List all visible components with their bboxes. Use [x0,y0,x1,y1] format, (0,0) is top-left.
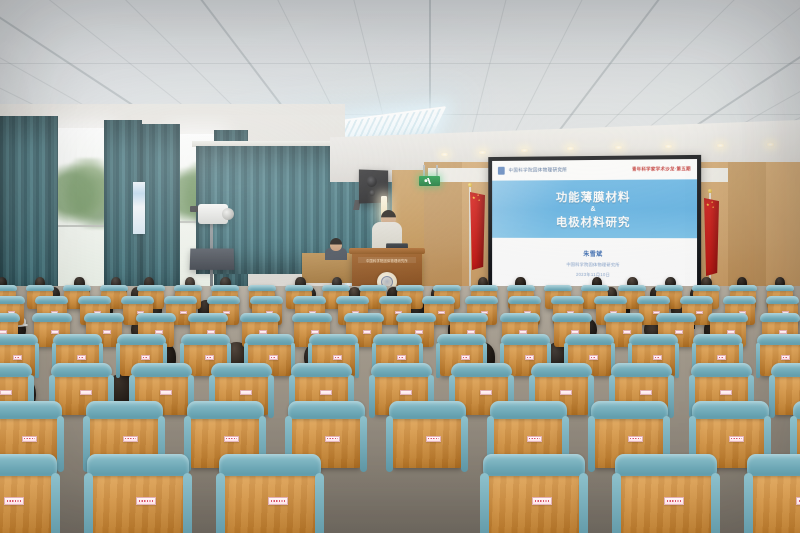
seat-headrest [465,296,498,304]
seat-number-label [0,390,12,395]
seat-number-label [123,436,138,443]
seat-headrest [470,285,499,292]
seat-number-label [160,390,172,395]
seat-armrest [744,473,753,533]
seat-headrest [248,285,277,292]
running-man-icon [423,178,436,184]
seat-number-label [224,436,239,443]
speaker-driver-icon [367,176,377,187]
seat-number-label [461,355,471,359]
slide-title-line2: 电极材料研究 [556,214,631,230]
seat-headrest [309,334,357,345]
seat-number-label [333,355,343,359]
seat-armrest [711,473,720,533]
speaker-driver-icon [369,190,375,196]
seat-armrest [612,473,621,533]
wall-poster [133,182,145,234]
seat-headrest [373,334,421,345]
seat-headrest [0,363,32,377]
flag-star: ★ [477,194,479,198]
auditorium-seat [0,462,52,533]
seat-armrest [183,473,192,533]
seat-number-label [628,436,643,443]
window-foliage [56,158,108,229]
auditorium-seat [224,462,316,533]
seat-headrest [551,296,584,304]
seat-headrest [211,285,240,292]
seat-armrest [116,343,120,378]
seat-number-label [363,330,371,333]
slide-title-band: 功能薄膜材料 & 电极材料研究 [492,180,697,238]
seat-headrest [136,313,176,322]
seat-headrest [51,363,112,377]
seat-number-label [77,355,87,359]
seat-headrest [544,285,573,292]
seat-headrest [747,454,800,477]
seat-number-label [640,390,652,395]
seat-armrest [268,375,274,418]
seated-staff-head [330,238,342,251]
seat-headrest [84,313,124,322]
seat-armrest [57,416,64,471]
seat-number-label [13,355,23,359]
curtain-far-left [0,116,58,306]
seat-number-label [240,390,252,395]
seat-headrest [219,454,320,477]
institute-logo-icon [498,167,505,175]
chinese-flag-left: ★ ★ ★ [470,192,485,270]
seat-number-label [796,497,800,505]
seat-headrest [293,296,326,304]
seat-headrest [181,334,229,345]
podium-top [349,248,425,254]
seat-headrest [448,313,488,322]
seat-headrest [618,285,647,292]
seat-armrest [315,473,324,533]
seat-headrest [336,296,369,304]
recessed-downlight [614,145,623,150]
podium-banner: 中国科学院固体物理研究所 [358,257,416,263]
seat-headrest [422,296,455,304]
seat-headrest [594,296,627,304]
seat-headrest [433,285,462,292]
seat-armrest [386,416,393,471]
curtain-mid [140,124,180,302]
seat-headrest [691,363,752,377]
seat-headrest [0,401,62,419]
seat-armrest [588,416,595,471]
seat-number-label [268,497,288,505]
seat-headrest [565,334,613,345]
exit-sign [419,176,440,186]
seat-headrest [629,334,677,345]
seat-headrest [693,334,741,345]
seat-headrest [655,285,684,292]
seat-headrest [500,313,540,322]
seat-headrest [0,296,25,304]
seat-headrest [437,334,485,345]
seat-headrest [26,285,55,292]
seat-headrest [490,401,567,419]
seat-headrest [78,296,111,304]
seat-number-label [653,355,663,359]
seat-headrest [63,285,92,292]
recessed-downlight [766,142,775,147]
slide-header: 中国科学院固体物理研究所 青年科学家学术沙龙·第五期 [492,159,697,181]
seat-headrest [188,313,228,322]
seat-headrest [0,285,17,292]
seat-armrest [84,473,93,533]
seat-number-label [103,330,111,333]
seat-number-label [269,355,279,359]
seat-number-label [675,330,683,333]
seat-headrest [240,313,280,322]
seat-number-label [22,436,37,443]
flag-finial [708,189,712,193]
seat-headrest [581,285,610,292]
recessed-downlight [520,148,529,153]
seat-headrest [288,401,365,419]
ceiling-seam [0,63,800,64]
seat-headrest [552,313,592,322]
seat-number-label [729,436,744,443]
auditorium-seat [488,462,580,533]
seat-headrest [207,296,240,304]
seat-headrest [53,334,101,345]
seat-headrest [211,363,272,377]
seat-number-label [180,311,187,314]
seat-headrest [285,285,314,292]
seat-number-label [696,311,703,314]
seat-number-label [325,436,340,443]
seat-number-label [560,390,572,395]
video-camera [198,204,228,224]
slide-series-name: 青年科学家学术沙龙·第五期 [632,166,691,173]
seat-armrest [675,343,679,378]
seat-headrest [291,363,352,377]
seat-headrest [187,401,264,419]
seat-headrest [322,285,351,292]
recessed-downlight [664,144,673,149]
seat-headrest [396,285,425,292]
seat-number-label [136,497,156,505]
seat-headrest [757,334,800,345]
seat-headrest [723,296,756,304]
seat-number-label [415,330,423,333]
flag-star: ★ [706,203,710,207]
window-left [56,128,108,296]
seat-armrest [35,343,39,378]
seat-number-label [717,355,727,359]
auditorium-seat [392,408,462,468]
seat-headrest [32,313,72,322]
seat-number-label [438,311,445,314]
seat-headrest [637,296,670,304]
seat-armrest [461,416,468,471]
seat-number-label [80,390,92,395]
seat-headrest [508,296,541,304]
seat-headrest [766,285,795,292]
seat-armrest [769,375,775,418]
auditorium-seat [620,462,712,533]
recessed-downlight [566,146,575,151]
seat-armrest [51,473,60,533]
seat-armrest [369,375,375,418]
camera-monitor [190,249,235,270]
seat-armrest [436,343,440,378]
seat-headrest [708,313,748,322]
seat-number-label [4,497,24,505]
camera-lens-icon [222,208,234,220]
presentation-slide: 中国科学院固体物理研究所 青年科学家学术沙龙·第五期 功能薄膜材料 & 电极材料… [492,159,697,289]
seat-headrest [656,313,696,322]
seat-number-label [720,390,732,395]
seat-headrest [164,296,197,304]
seat-headrest [371,363,432,377]
seat-headrest [0,454,57,477]
seat-number-label [527,436,542,443]
seat-armrest [668,375,674,418]
seat-headrest [389,401,466,419]
seat-headrest [507,285,536,292]
seat-headrest [35,296,68,304]
slide-title-line1: 功能薄膜材料 [556,189,631,205]
seat-number-label [623,330,631,333]
flag-finial [468,183,472,187]
slide-affiliation: 中国科学院固体物理研究所 [566,261,620,267]
recessed-downlight [478,150,487,155]
seat-headrest [174,285,203,292]
seat-headrest [692,401,769,419]
seat-headrest [501,334,549,345]
seat-headrest [292,313,332,322]
seat-headrest [760,313,800,322]
seat-headrest [137,285,166,292]
chinese-flag-right: ★ ★ ★ [704,198,719,276]
seat-number-label [664,497,684,505]
seat-number-label [426,436,441,443]
seat-number-label [781,355,791,359]
seat-headrest [531,363,592,377]
seat-number-label [141,355,151,359]
seat-headrest [729,285,758,292]
flag-star: ★ [478,199,480,203]
seat-headrest [615,454,716,477]
auditorium-seat [752,462,800,533]
seat-number-label [400,390,412,395]
seat-headrest [766,296,799,304]
seat-headrest [771,363,800,377]
seat-number-label [205,355,215,359]
seat-headrest [87,454,188,477]
seat-headrest [680,296,713,304]
seat-armrest [360,416,367,471]
seat-headrest [344,313,384,322]
seat-armrest [216,473,225,533]
seat-headrest [591,401,668,419]
seat-headrest [131,363,192,377]
seat-headrest [121,296,154,304]
seat-headrest [396,313,436,322]
seat-headrest [86,401,163,419]
auditorium-seat [92,462,184,533]
seat-armrest [355,343,359,378]
seat-number-label [480,390,492,395]
seat-headrest [451,363,512,377]
seat-headrest [0,334,38,345]
slide-date: 2023年11月10日 [576,272,610,278]
seat-number-label [589,355,599,359]
recessed-downlight [716,143,725,148]
slide-institute-name: 中国科学院固体物理研究所 [509,167,568,173]
seat-headrest [117,334,165,345]
seat-number-label [320,390,332,395]
slide-title-ampersand: & [590,206,595,213]
flag-star: ★ [472,196,476,200]
slide-footer: 朱雪斌 中国科学院固体物理研究所 2023年11月10日 [492,240,697,278]
seat-headrest [245,334,293,345]
seat-number-label [525,355,535,359]
seat-headrest [379,296,412,304]
window-mullion [56,225,108,227]
seat-headrest [250,296,283,304]
lecture-hall-photo: ★ ★ ★ ★ ★ ★ 中国科学院固体物理研究所 青年科学家学术沙龙·第五期 功… [0,0,800,533]
seat-headrest [0,313,20,322]
seat-headrest [359,285,388,292]
seat-armrest [579,473,588,533]
seat-number-label [532,497,552,505]
seat-armrest [756,343,760,378]
flag-star: ★ [711,201,713,205]
seat-number-label [397,355,407,359]
seat-headrest [604,313,644,322]
flag-star: ★ [712,206,714,210]
seat-headrest [692,285,721,292]
seat-headrest [483,454,584,477]
projection-screen: 中国科学院固体物理研究所 青年科学家学术沙龙·第五期 功能薄膜材料 & 电极材料… [488,155,701,293]
seat-headrest [611,363,672,377]
recessed-downlight [440,152,449,157]
seat-armrest [480,473,489,533]
seat-headrest [100,285,129,292]
slide-speaker-name: 朱雪斌 [583,249,602,258]
